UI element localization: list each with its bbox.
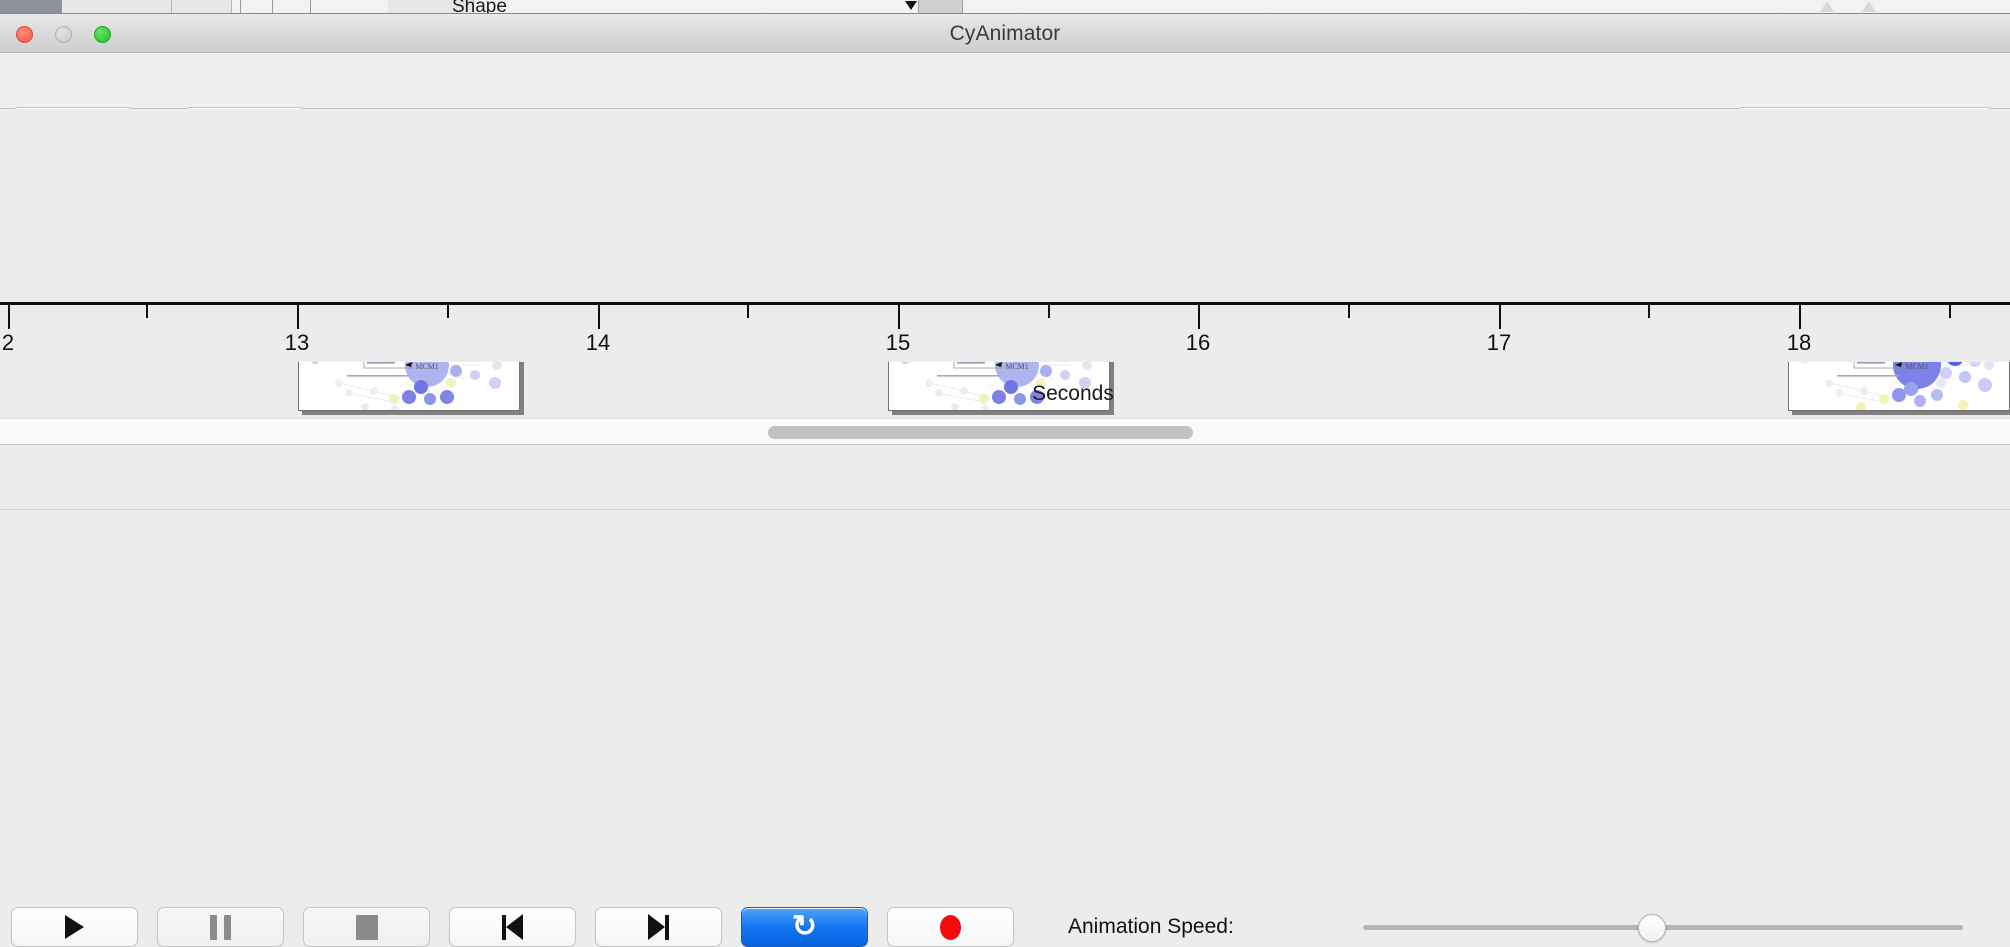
ruler-tick-minor [1949, 305, 1951, 318]
ruler-tick-minor [1648, 305, 1650, 318]
toolbar: Clear All Frames [0, 53, 2010, 109]
ruler-tick [1799, 305, 1801, 329]
slider-handle[interactable] [1638, 914, 1666, 942]
ruler-tick-minor [1048, 305, 1050, 318]
ruler-tick-label: 16 [1186, 330, 1210, 356]
ruler-tick [1198, 305, 1200, 329]
title-bar: CyAnimator [0, 14, 2010, 53]
stop-button[interactable] [303, 907, 430, 947]
axis-title: Seconds [0, 382, 2010, 406]
ruler-tick-label: 13 [285, 330, 309, 356]
ruler-tick-label: 14 [586, 330, 610, 356]
timeline-ruler[interactable]: 2 13 14 15 16 17 18 [0, 302, 2010, 362]
bg-divider [240, 0, 241, 14]
bg-chip [172, 0, 232, 14]
ruler-tick-label: 15 [886, 330, 910, 356]
animation-speed-slider[interactable] [1333, 907, 1993, 947]
ruler-tick [898, 305, 900, 329]
play-button[interactable] [11, 907, 138, 947]
timeline-panel[interactable]: MCM1 [0, 109, 2010, 302]
animation-speed-label: Animation Speed: [1068, 907, 1234, 947]
record-button[interactable] [887, 907, 1014, 947]
horizontal-scrollbar[interactable] [0, 418, 2010, 445]
skip-back-icon [502, 914, 523, 940]
background-window-strip: Shape [0, 0, 2010, 14]
loop-button[interactable]: ↻ [741, 907, 868, 947]
svg-text:MCM1: MCM1 [1905, 362, 1929, 371]
skip-forward-icon [648, 914, 669, 940]
bg-divider [272, 0, 273, 14]
prev-frame-button[interactable] [449, 907, 576, 947]
playback-control-bar: ↻ Animation Speed: [0, 445, 2010, 510]
bg-chip [0, 0, 62, 14]
bg-chip [62, 0, 172, 14]
window-title: CyAnimator [0, 14, 2010, 53]
ruler-tick [8, 305, 10, 329]
ruler-tick [297, 305, 299, 329]
next-frame-button[interactable] [595, 907, 722, 947]
play-icon [65, 915, 84, 939]
bg-triangle-icon [1862, 1, 1876, 12]
bg-triangle-icon [1820, 1, 1834, 12]
ruler-tick [598, 305, 600, 329]
bg-window-label: Shape [452, 0, 507, 14]
svg-text:MCM1: MCM1 [415, 362, 439, 371]
record-icon [940, 915, 961, 940]
stop-icon [356, 915, 378, 940]
bg-tab [918, 0, 963, 14]
axis-title-text: Seconds [1032, 382, 1114, 405]
bg-divider [310, 0, 311, 14]
ruler-tick [1499, 305, 1501, 329]
ruler-tick-label: 2 [2, 330, 14, 356]
ruler-tick-minor [146, 305, 148, 318]
loop-icon: ↻ [792, 912, 817, 942]
pause-icon [210, 915, 231, 940]
ruler-tick-minor [1348, 305, 1350, 318]
ruler-baseline [0, 302, 2010, 305]
ruler-tick-label: 17 [1487, 330, 1511, 356]
pause-button[interactable] [157, 907, 284, 947]
ruler-tick-label: 18 [1787, 330, 1811, 356]
horizontal-scrollbar-thumb[interactable] [768, 426, 1193, 439]
ruler-tick-minor [447, 305, 449, 318]
bg-caret-icon [905, 1, 917, 10]
svg-text:MCM1: MCM1 [1005, 362, 1029, 371]
ruler-tick-minor [747, 305, 749, 318]
